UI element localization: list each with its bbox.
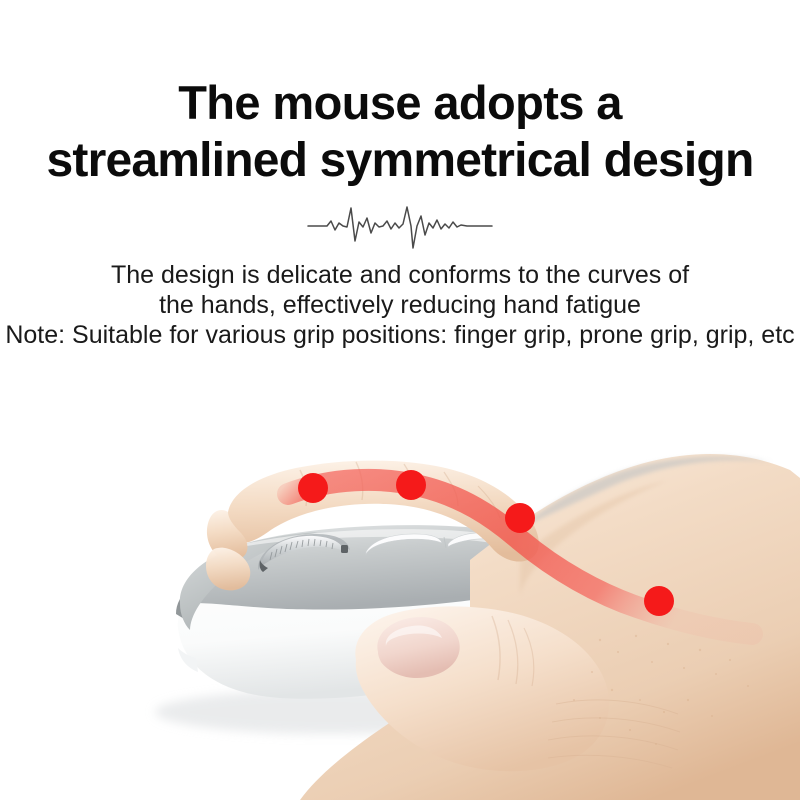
product-photo (0, 370, 800, 800)
curve-point-dot (505, 503, 535, 533)
page-title: The mouse adopts a streamlined symmetric… (0, 74, 800, 190)
curve-point-dot (298, 473, 328, 503)
description-line-1: The design is delicate and conforms to t… (0, 260, 800, 290)
product-marketing-banner: The mouse adopts a streamlined symmetric… (0, 0, 800, 800)
curve-point-dot (644, 586, 674, 616)
description-line-2: the hands, effectively reducing hand fat… (0, 290, 800, 320)
headline-line-1: The mouse adopts a (0, 74, 800, 132)
divider (300, 196, 500, 254)
headline-line-2: streamlined symmetrical design (0, 132, 800, 190)
curve-point-dot (396, 470, 426, 500)
description-note-line: Note: Suitable for various grip position… (0, 320, 800, 350)
hand-on-mouse-illustration (0, 370, 800, 800)
ecg-waveform-divider-icon (300, 196, 500, 254)
description-block: The design is delicate and conforms to t… (0, 260, 800, 350)
